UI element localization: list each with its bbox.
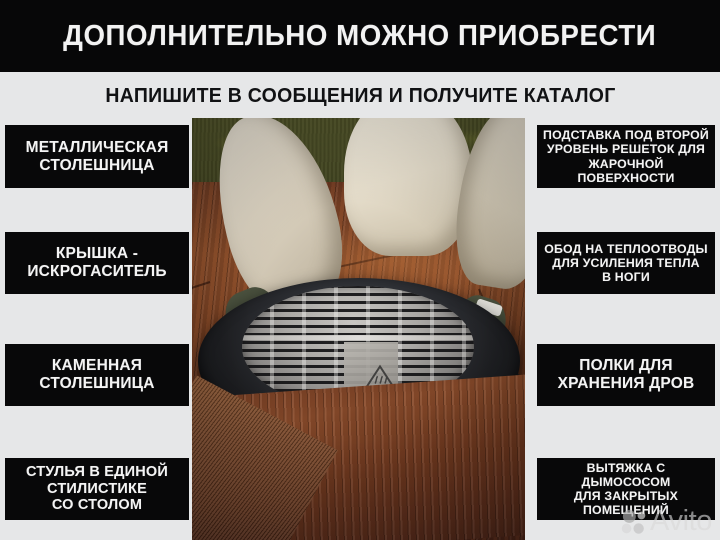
- caption-heat-rim: ОБОД НА ТЕПЛООТВОДЫ ДЛЯ УСИЛЕНИЯ ТЕПЛА В…: [537, 232, 715, 294]
- caption-text: СТУЛЬЯ В ЕДИНОЙ СТИЛИСТИКЕ СО СТОЛОМ: [26, 464, 168, 514]
- product-photo: [192, 118, 525, 540]
- person-coat-center: [344, 118, 472, 256]
- caption-spark-lid: КРЫШКА - ИСКРОГАСИТЕЛЬ: [5, 232, 189, 294]
- caption-matching-chairs: СТУЛЬЯ В ЕДИНОЙ СТИЛИСТИКЕ СО СТОЛОМ: [5, 458, 189, 520]
- subheadline-text: НАПИШИТЕ В СООБЩЕНИЯ И ПОЛУЧИТЕ КАТАЛОГ: [105, 86, 615, 107]
- caption-text: ПОДСТАВКА ПОД ВТОРОЙ УРОВЕНЬ РЕШЕТОК ДЛЯ…: [543, 128, 709, 184]
- subheadline-band: НАПИШИТЕ В СООБЩЕНИЯ И ПОЛУЧИТЕ КАТАЛОГ: [0, 72, 720, 120]
- caption-text: ВЫТЯЖКА С ДЫМОСОСОМ ДЛЯ ЗАКРЫТЫХ ПОМЕЩЕН…: [543, 461, 709, 517]
- caption-text: КАМЕННАЯ СТОЛЕШНИЦА: [39, 357, 154, 392]
- grate-crossbar: [242, 335, 474, 340]
- headline-text: ДОПОЛНИТЕЛЬНО МОЖНО ПРИОБРЕСТИ: [63, 22, 656, 51]
- caption-stone-worktop: КАМЕННАЯ СТОЛЕШНИЦА: [5, 344, 189, 406]
- photo-scene: [192, 118, 525, 540]
- caption-text: КРЫШКА - ИСКРОГАСИТЕЛЬ: [27, 245, 166, 280]
- caption-smoke-extractor: ВЫТЯЖКА С ДЫМОСОСОМ ДЛЯ ЗАКРЫТЫХ ПОМЕЩЕН…: [537, 458, 715, 520]
- caption-firewood-shelves: ПОЛКИ ДЛЯ ХРАНЕНИЯ ДРОВ: [537, 344, 715, 406]
- plank-seam: [192, 281, 210, 316]
- caption-metal-worktop: МЕТАЛЛИЧЕСКАЯ СТОЛЕШНИЦА: [5, 125, 189, 188]
- poster-root: ДОПОЛНИТЕЛЬНО МОЖНО ПРИОБРЕСТИ НАПИШИТЕ …: [0, 0, 720, 540]
- headline-bar: ДОПОЛНИТЕЛЬНО МОЖНО ПРИОБРЕСТИ: [0, 0, 720, 72]
- caption-text: ПОЛКИ ДЛЯ ХРАНЕНИЯ ДРОВ: [558, 357, 695, 392]
- caption-text: МЕТАЛЛИЧЕСКАЯ СТОЛЕШНИЦА: [26, 139, 169, 174]
- caption-text: ОБОД НА ТЕПЛООТВОДЫ ДЛЯ УСИЛЕНИЯ ТЕПЛА В…: [544, 242, 708, 284]
- caption-second-level-stand: ПОДСТАВКА ПОД ВТОРОЙ УРОВЕНЬ РЕШЕТОК ДЛЯ…: [537, 125, 715, 188]
